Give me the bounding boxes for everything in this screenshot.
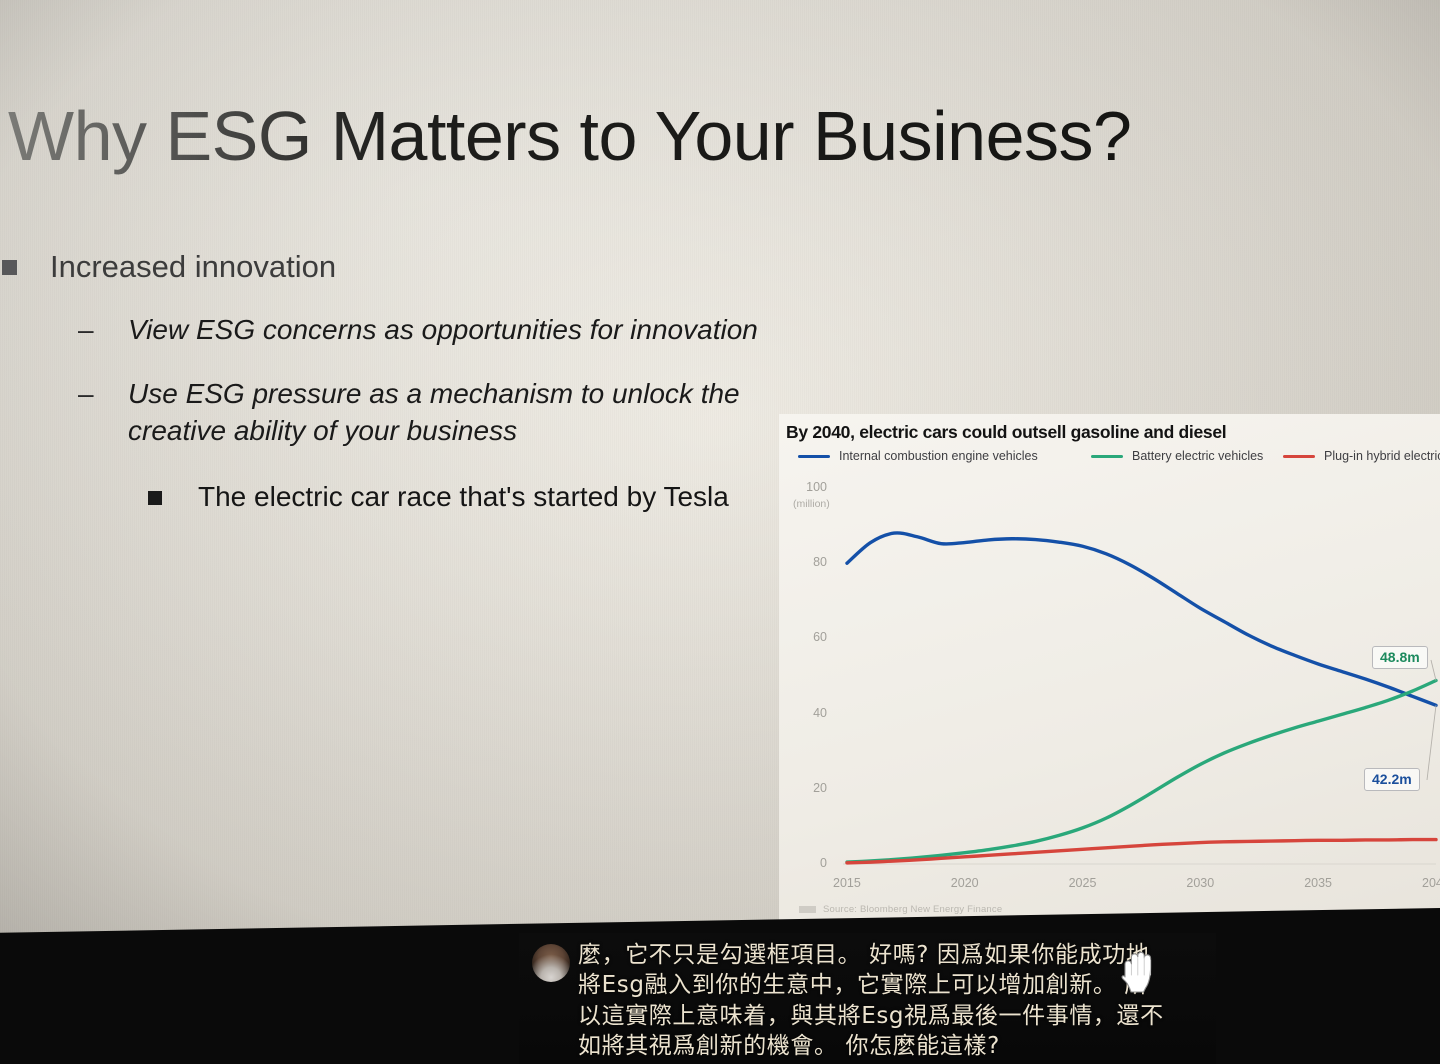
legend-label: Internal combustion engine vehicles [839, 449, 1038, 463]
legend-item: Internal combustion engine vehicles [798, 449, 1038, 463]
bullet-level1: Increased innovation [0, 248, 810, 285]
callout-leader-line [1427, 705, 1436, 780]
x-axis-tick-label: 2020 [951, 876, 979, 890]
legend-item: Battery electric vehicles [1091, 449, 1263, 463]
x-axis-tick-label: 2025 [1069, 876, 1097, 890]
chart-source-note: Source: Bloomberg New Energy Finance [799, 904, 1002, 915]
chart-title: By 2040, electric cars could outsell gas… [786, 422, 1226, 443]
x-axis-tick-label: 2035 [1304, 876, 1332, 890]
projected-slide: Why ESG Matters to Your Business? Increa… [0, 0, 1440, 940]
caption-line: 將Esg融入到你的生意中，它實際上可以增加創新。 所 [578, 970, 1164, 1000]
bullet-level2-item: – Use ESG pressure as a mechanism to unl… [0, 375, 810, 450]
data-label-bev: 48.8m [1372, 646, 1428, 669]
y-axis-tick-label: 40 [793, 706, 827, 720]
caption-line: 麼，它不只是勾選框項目。 好嗎? 因爲如果你能成功地 [578, 940, 1164, 970]
page-title: Why ESG Matters to Your Business? [8, 96, 1131, 176]
dash-icon: – [78, 311, 94, 349]
callout-leader-line [1431, 660, 1436, 681]
chart-line-battery-electric-vehicles [847, 681, 1436, 863]
speaker-avatar [532, 944, 570, 982]
bullet-list: Increased innovation – View ESG concerns… [0, 248, 810, 513]
legend-swatch-icon [1283, 455, 1315, 458]
source-mark-icon [799, 906, 816, 913]
legend-label: Plug-in hybrid electric vehicles [1324, 449, 1440, 463]
chart-source-text: Source: Bloomberg New Energy Finance [823, 904, 1002, 915]
chart-figure: By 2040, electric cars could outsell gas… [779, 414, 1440, 922]
legend-item: Plug-in hybrid electric vehicles [1283, 449, 1440, 463]
legend-swatch-icon [1091, 455, 1123, 458]
y-axis-tick-label: 80 [793, 555, 827, 569]
x-axis-tick-label: 2015 [833, 876, 861, 890]
x-axis-tick-label: 2040 [1422, 876, 1440, 890]
bullet-level1-label: Increased innovation [50, 249, 336, 284]
bullet-level2-item: – View ESG concerns as opportunities for… [0, 311, 810, 349]
bullet-level2-label: Use ESG pressure as a mechanism to unloc… [128, 378, 740, 447]
y-axis-tick-label: 60 [793, 630, 827, 644]
legend-label: Battery electric vehicles [1132, 449, 1263, 463]
dash-icon: – [78, 375, 94, 413]
chart-legend: Internal combustion engine vehicles Batt… [786, 449, 1440, 469]
caption-line: 以這實際上意味着，與其將Esg視爲最後一件事情，還不 [578, 1001, 1164, 1031]
legend-swatch-icon [798, 455, 830, 458]
y-axis-tick-label: 100 [793, 480, 827, 494]
caption-text: 麼，它不只是勾選框項目。 好嗎? 因爲如果你能成功地 將Esg融入到你的生意中，… [578, 940, 1170, 1061]
y-axis-tick-label: 20 [793, 781, 827, 795]
data-label-ice: 42.2m [1364, 768, 1420, 791]
bullet-level3-item: The electric car race that's started by … [0, 480, 810, 514]
chart-plot-area: (million) 48.8m 42.2m 020406080100201520… [779, 478, 1440, 922]
bullet-level3-label: The electric car race that's started by … [198, 481, 729, 512]
chart-lines-svg [779, 478, 1440, 922]
subtitle-caption-bar: 麼，它不只是勾選框項目。 好嗎? 因爲如果你能成功地 將Esg融入到你的生意中，… [519, 933, 1216, 1064]
bullet-square-icon [2, 260, 17, 275]
chart-line-internal-combustion-engine-vehicles [847, 533, 1436, 705]
x-axis-tick-label: 2030 [1186, 876, 1214, 890]
chart-line-plug-in-hybrid-electric-vehicles [847, 840, 1436, 863]
y-axis-tick-label: 0 [793, 856, 827, 870]
bullet-square-icon [148, 491, 162, 505]
caption-line: 如將其視爲創新的機會。 你怎麼能這樣? [578, 1031, 1164, 1061]
bullet-level2-label: View ESG concerns as opportunities for i… [128, 314, 758, 345]
